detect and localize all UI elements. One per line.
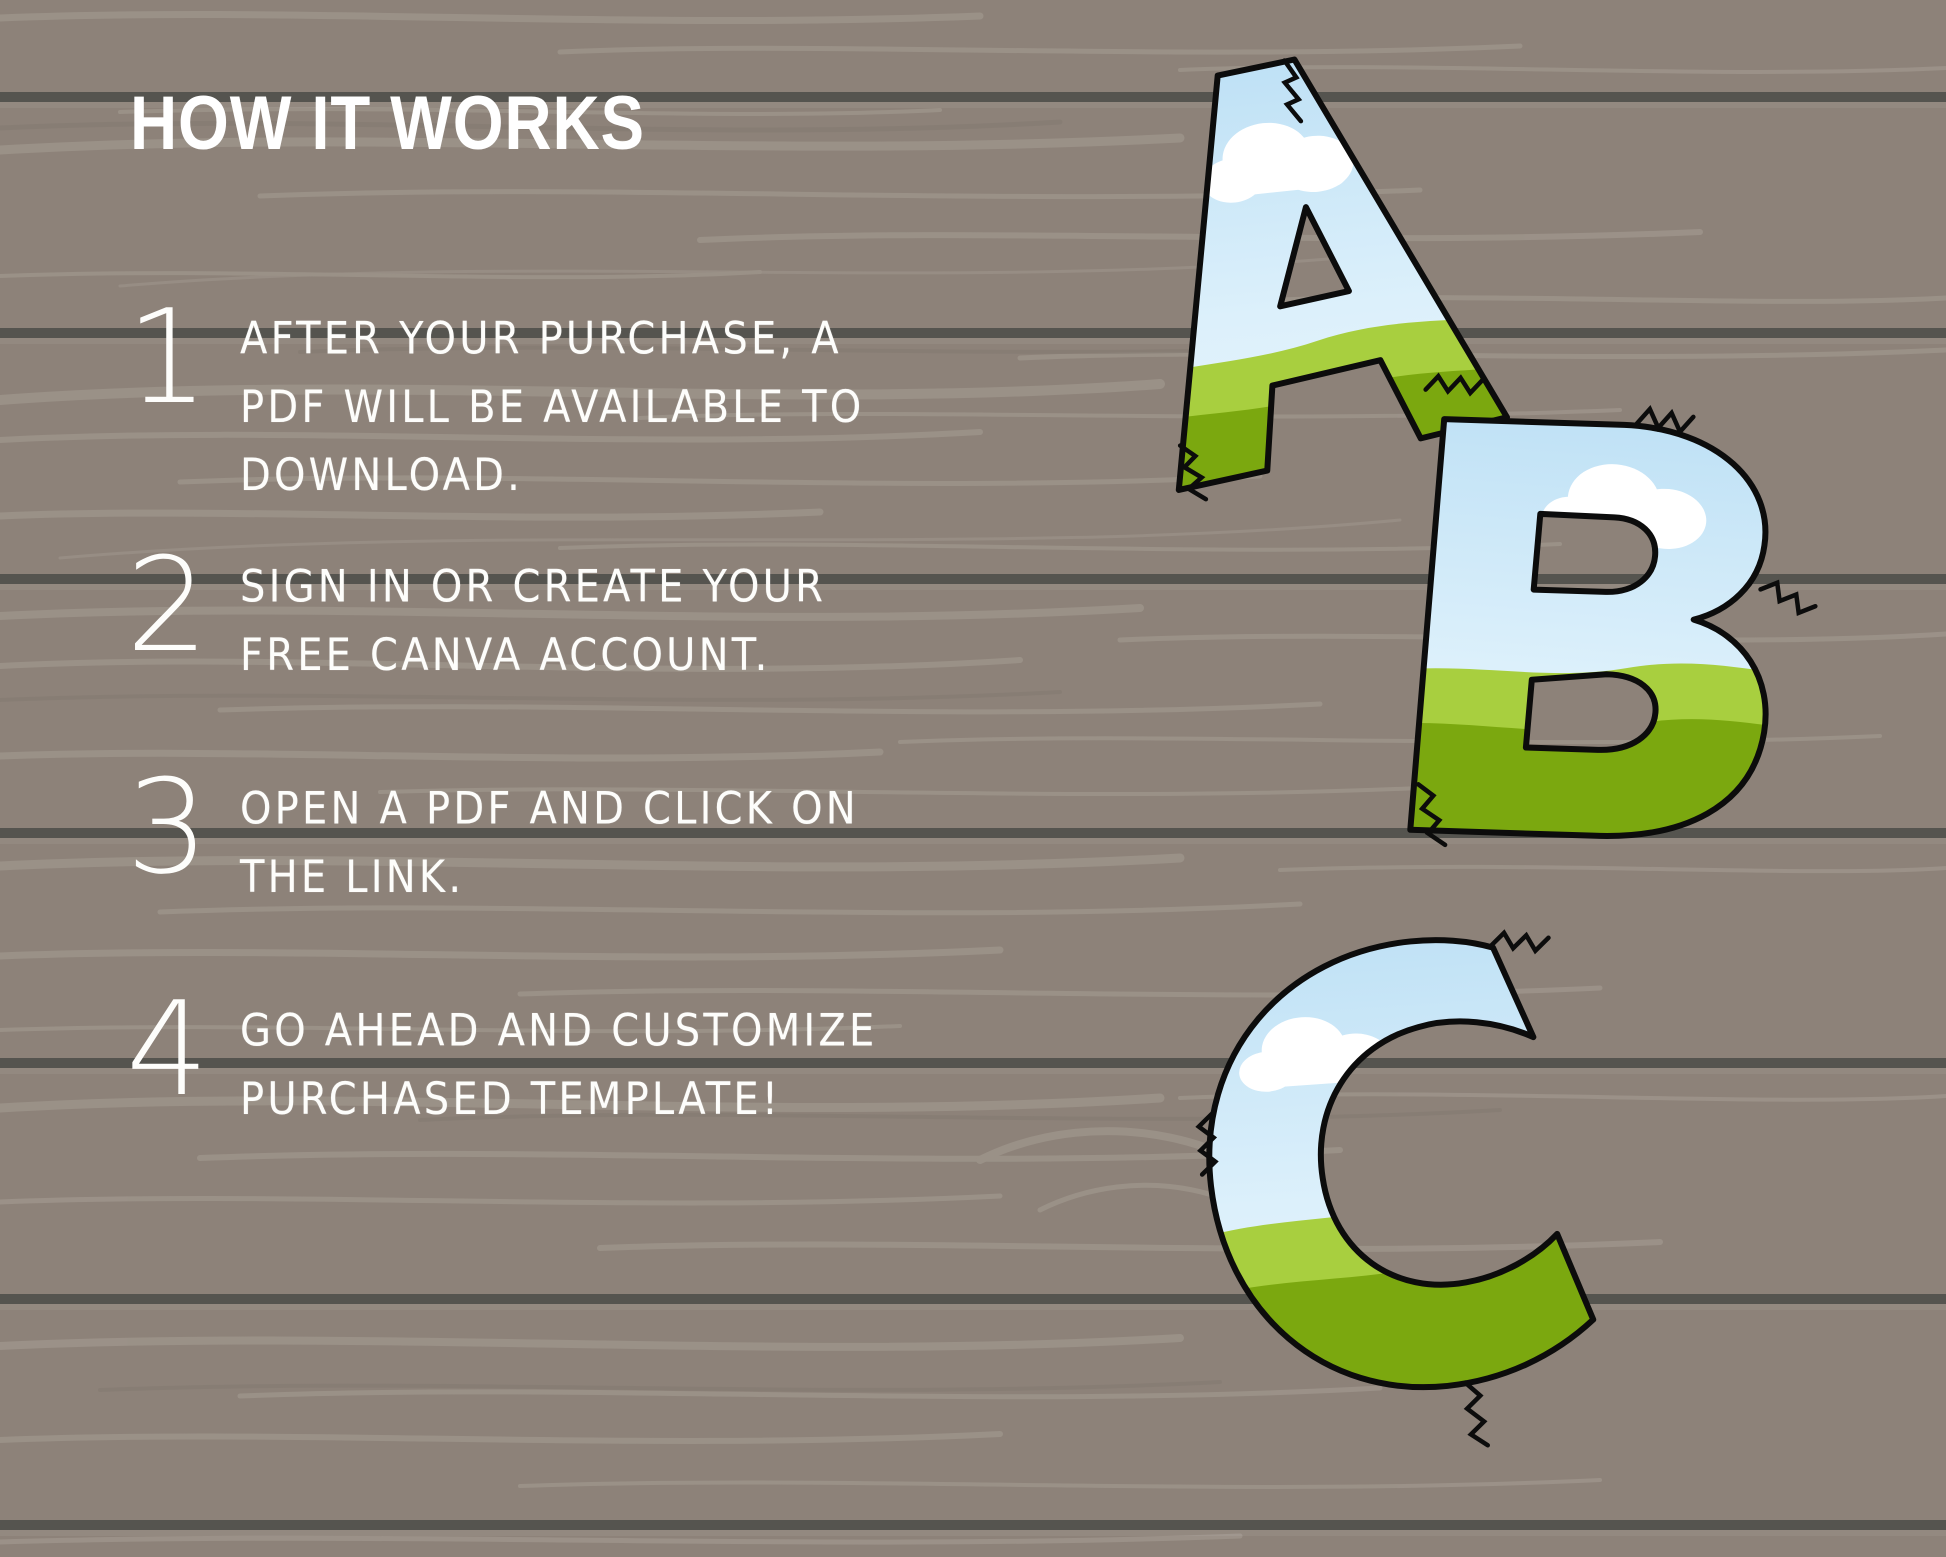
step-text: OPEN A PDF AND CLICK ON THE LINK. — [240, 762, 920, 912]
list-item: 1 AFTER YOUR PURCHASE, A PDF WILL BE AVA… — [120, 292, 920, 540]
list-item: 3 OPEN A PDF AND CLICK ON THE LINK. — [120, 762, 920, 984]
page-title: HOW IT WORKS — [130, 86, 645, 162]
step-text: GO AHEAD AND CUSTOMIZE PURCHASED TEMPLAT… — [240, 984, 920, 1134]
steps-list: 1 AFTER YOUR PURCHASE, A PDF WILL BE AVA… — [120, 292, 920, 1174]
step-text: AFTER YOUR PURCHASE, A PDF WILL BE AVAIL… — [240, 292, 920, 510]
step-number: 3 — [120, 762, 240, 892]
step-text: SIGN IN OR CREATE YOUR FREE CANVA ACCOUN… — [240, 540, 920, 690]
list-item: 4 GO AHEAD AND CUSTOMIZE PURCHASED TEMPL… — [120, 984, 920, 1174]
step-number: 1 — [120, 292, 240, 422]
step-number: 2 — [120, 540, 240, 670]
letter-c-graphic — [1190, 910, 1630, 1430]
step-number: 4 — [120, 984, 240, 1114]
list-item: 2 SIGN IN OR CREATE YOUR FREE CANVA ACCO… — [120, 540, 920, 762]
poster-canvas: HOW IT WORKS 1 AFTER YOUR PURCHASE, A PD… — [0, 0, 1946, 1557]
plank-divider — [0, 1520, 1946, 1530]
plank-divider — [0, 1294, 1946, 1304]
letter-b-graphic — [1370, 400, 1840, 900]
